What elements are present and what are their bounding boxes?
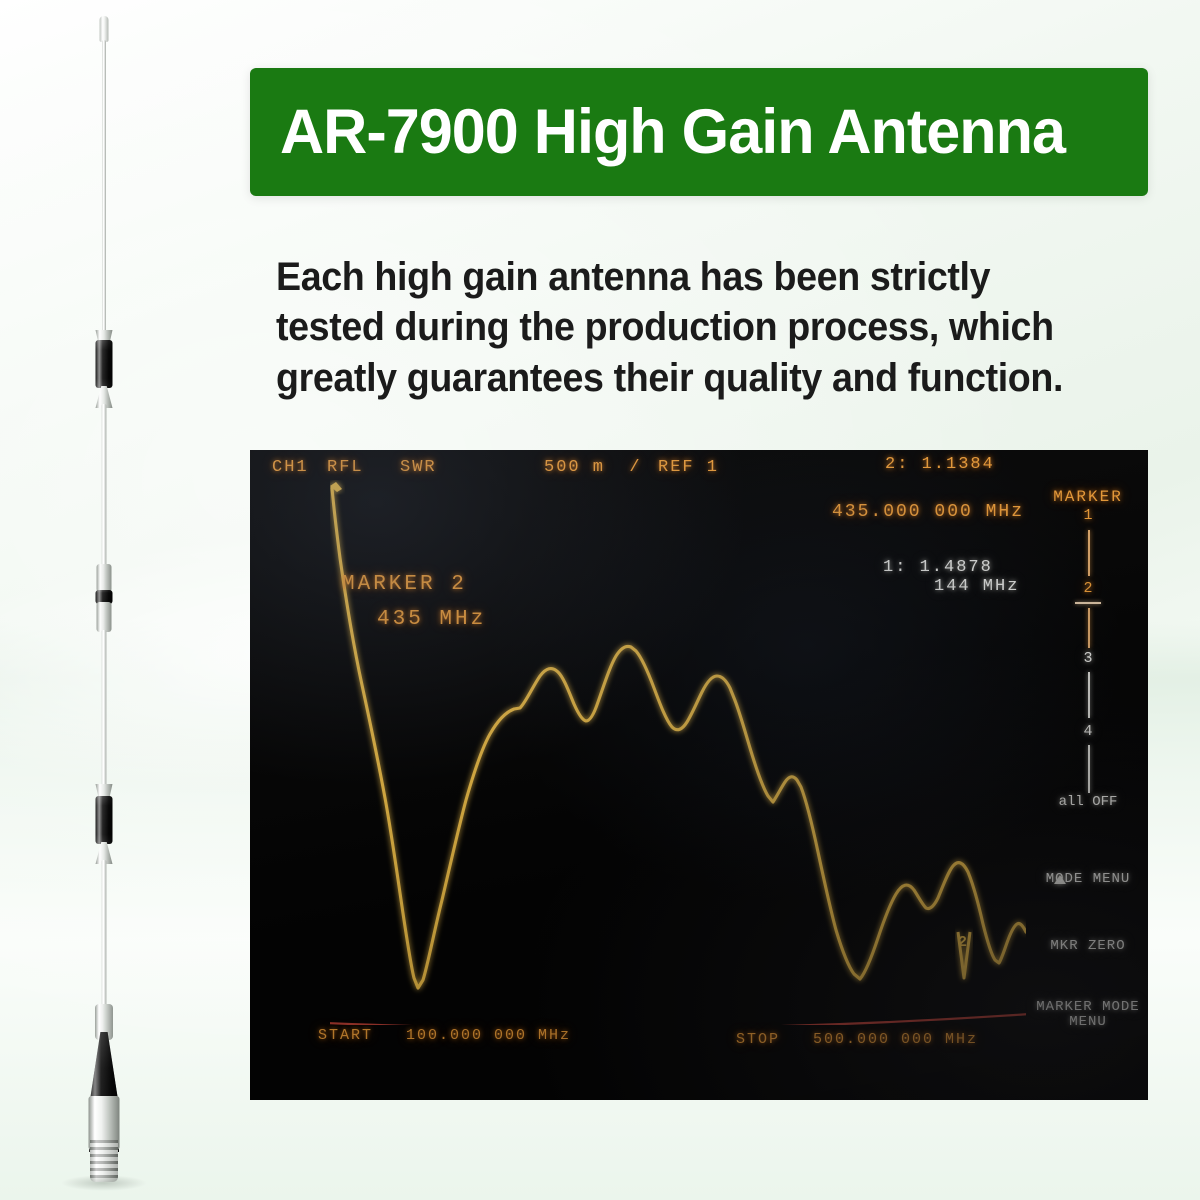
antenna-tip-cap — [100, 16, 109, 42]
softkey-marker-1[interactable]: 1 — [1028, 507, 1148, 524]
marker1-frequency-readout: 144 MHz — [934, 577, 1019, 596]
vna-format-label: SWR — [400, 458, 437, 477]
softkey-marker-mode-menu[interactable]: MARKER MODE MENU — [1028, 1000, 1148, 1031]
svg-text:2: 2 — [958, 934, 967, 951]
softkey-mode-menu[interactable]: MODE MENU — [1028, 872, 1148, 887]
vna-reference-label: REF 1 — [658, 458, 719, 477]
softkey-tick-1 — [1088, 530, 1090, 576]
softkey-mkr-zero[interactable]: MKR ZERO — [1028, 938, 1148, 954]
antenna-base-whip — [102, 860, 107, 1014]
marker1-value-readout: 1: 1.4878 — [883, 558, 993, 577]
description-text: Each high gain antenna has been strictly… — [276, 252, 1094, 403]
antenna-upper-coil — [96, 340, 113, 388]
graph-marker-frequency: 435 MHz — [377, 608, 486, 631]
softkey-marker-heading[interactable]: MARKER — [1028, 488, 1148, 506]
product-antenna-image — [64, 0, 144, 1185]
antenna-middle-ferrule-top — [97, 564, 112, 592]
antenna-shadow — [61, 1175, 147, 1191]
vna-screen-photo: 2 CH1 SWR 500 m / REF 1 RFL 2: 1.1384 43… — [250, 450, 1148, 1100]
softkey-marker-2[interactable]: 2 — [1028, 580, 1148, 597]
softkey-tick-3 — [1088, 672, 1090, 718]
title-banner: AR-7900 High Gain Antenna — [250, 68, 1148, 196]
sweep-stop-label: STOP 500.000 000 MHz — [736, 1031, 978, 1048]
softkey-marker-4[interactable]: 4 — [1028, 723, 1148, 740]
antenna-middle-ferrule-bottom — [97, 602, 112, 632]
page-title: AR-7900 High Gain Antenna — [280, 96, 1065, 168]
softkey-marker-3[interactable]: 3 — [1028, 650, 1148, 667]
graph-marker-label: MARKER 2 — [342, 573, 467, 596]
softkey-tick-2 — [1088, 608, 1090, 648]
vna-channel-label: CH1 — [272, 458, 309, 477]
softkey-selected-underline — [1075, 602, 1101, 604]
vna-scale-label: 500 m / — [544, 458, 642, 477]
vna-softkey-menu: MARKER 1 2 3 4 all OFF MODE MENU MKR ZER… — [1028, 450, 1148, 1100]
antenna-upper-whip — [102, 40, 106, 336]
marker2-frequency-readout: 435.000 000 MHz — [832, 502, 1024, 522]
sweep-start-label: START 100.000 000 MHz — [318, 1027, 571, 1044]
softkey-tick-4 — [1088, 745, 1090, 793]
vna-parameter-label: RFL — [327, 458, 364, 477]
antenna-lower-coil — [96, 796, 113, 844]
antenna-middle-whip — [102, 404, 107, 568]
marker2-value-readout: 2: 1.1384 — [885, 455, 995, 474]
softkey-all-off[interactable]: all OFF — [1028, 795, 1148, 810]
antenna-lower-whip — [102, 630, 107, 790]
